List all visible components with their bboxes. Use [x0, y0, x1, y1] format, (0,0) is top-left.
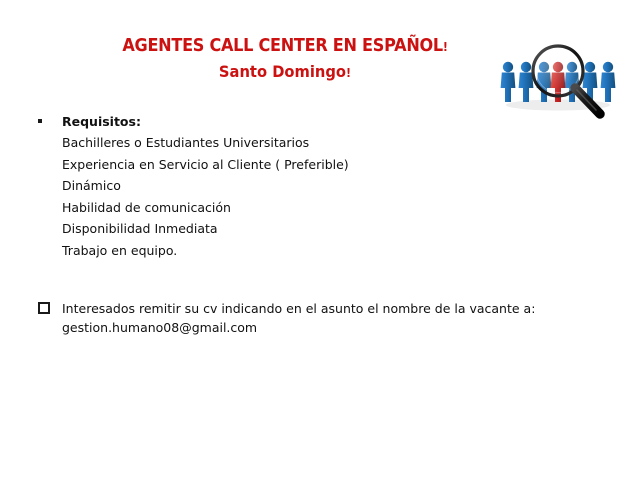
- hollow-square-bullet-icon: [38, 302, 50, 314]
- page-title: AGENTES CALL CENTER EN ESPAÑOL!: [78, 36, 492, 58]
- contact-email[interactable]: gestion.humano08@gmail.com: [36, 318, 556, 337]
- list-item: Dinámico: [36, 175, 496, 197]
- requirements-list: Bachilleres o Estudiantes Universitarios…: [36, 132, 496, 261]
- list-item: Bachilleres o Estudiantes Universitarios: [36, 132, 496, 154]
- requirements-heading: Requisitos:: [36, 113, 496, 132]
- page-subtitle-exclamation: !: [346, 66, 351, 80]
- contact-instruction-row: Interesados remitir su cv indicando en e…: [36, 299, 556, 318]
- contact-block: Interesados remitir su cv indicando en e…: [36, 299, 556, 337]
- slide-canvas: AGENTES CALL CENTER EN ESPAÑOL! Santo Do…: [0, 0, 640, 480]
- requirements-block: Requisitos: Bachilleres o Estudiantes Un…: [36, 113, 496, 261]
- list-item: Disponibilidad Inmediata: [36, 218, 496, 240]
- page-subtitle: Santo Domingo!: [78, 61, 492, 84]
- list-item: Experiencia en Servicio al Cliente ( Pre…: [36, 154, 496, 176]
- list-item: Trabajo en equipo.: [36, 240, 496, 262]
- list-item: Habilidad de comunicación: [36, 197, 496, 219]
- page-title-exclamation: !: [443, 40, 448, 54]
- requirements-label: Requisitos:: [62, 113, 141, 130]
- contact-instruction: Interesados remitir su cv indicando en e…: [36, 299, 556, 318]
- page-subtitle-text: Santo Domingo: [219, 62, 346, 81]
- recruitment-magnifier-logo: [492, 26, 624, 124]
- square-dot-bullet-icon: [38, 119, 42, 123]
- page-title-text: AGENTES CALL CENTER EN ESPAÑOL: [122, 36, 443, 56]
- heading-block: AGENTES CALL CENTER EN ESPAÑOL! Santo Do…: [60, 36, 510, 84]
